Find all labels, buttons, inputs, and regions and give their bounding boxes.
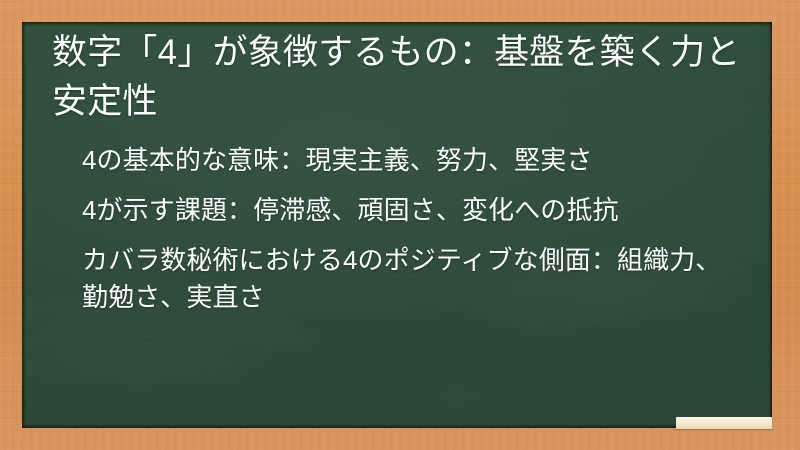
chalkboard-slide: 数字「4」が象徴するもの：基盤を築く力と安定性 4の基本的な意味：現実主義、努力… — [0, 0, 800, 450]
chalkboard-surface: 数字「4」が象徴するもの：基盤を築く力と安定性 4の基本的な意味：現実主義、努力… — [22, 22, 772, 428]
bullet-list: 4の基本的な意味：現実主義、努力、堅実さ 4が示す課題：停滞感、頑固さ、変化への… — [52, 142, 744, 316]
slide-title: 数字「4」が象徴するもの：基盤を築く力と安定性 — [52, 28, 742, 126]
bullet-item-3: カバラ数秘術における4のポジティブな側面：組織力、勤勉さ、実直さ — [52, 242, 742, 316]
slide-content: 数字「4」が象徴するもの：基盤を築く力と安定性 4の基本的な意味：現実主義、努力… — [22, 22, 772, 428]
chalk-stick-icon — [676, 417, 772, 429]
bullet-item-2: 4が示す課題：停滞感、頑固さ、変化への抵抗 — [52, 192, 742, 229]
bullet-item-1: 4の基本的な意味：現実主義、努力、堅実さ — [52, 142, 742, 179]
